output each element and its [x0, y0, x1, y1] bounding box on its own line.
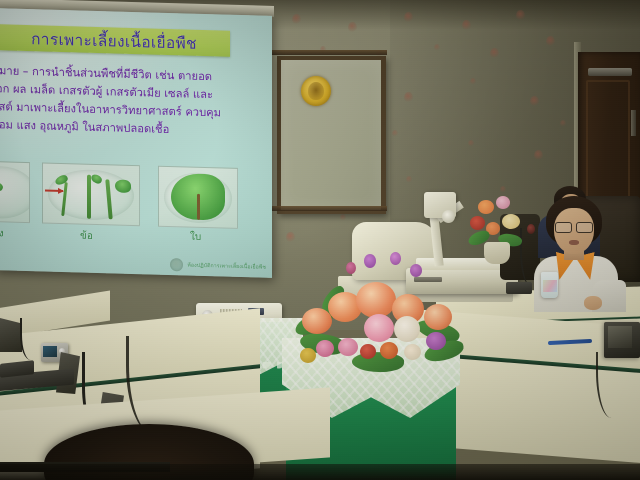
- gooseneck-microphone-front-left: [20, 318, 38, 360]
- projection-screen: การเพาะเลี้ยงเนื้อเยื่อพืช ามหมาย – การน…: [0, 8, 272, 288]
- eyeglasses: [555, 222, 593, 231]
- white-orchid: [394, 316, 420, 342]
- university-emblem: [301, 76, 331, 106]
- microphone-head: [527, 224, 535, 234]
- glass-label: [543, 280, 557, 292]
- chrysanthemum: [364, 314, 394, 342]
- screen-vignette: [0, 8, 272, 278]
- door-hinge-upper: [631, 110, 636, 136]
- floral-arrangement: [294, 252, 470, 374]
- microphone-base-speaker: [506, 282, 532, 294]
- overhead-projector-lens: [442, 210, 455, 223]
- water-glass: [541, 272, 558, 298]
- screen-surface: การเพาะเลี้ยงเนื้อเยื่อพืช ามหมาย – การน…: [0, 8, 272, 278]
- microphone-stand-far-left: [0, 318, 22, 352]
- board-rail-bottom: [265, 206, 387, 211]
- speaker-mouth: [569, 240, 579, 245]
- camera-screen: [43, 346, 57, 357]
- flower-vase: [484, 242, 510, 264]
- board-rail-top: [265, 50, 387, 55]
- control-unit-face: [608, 326, 632, 348]
- speaker-woman: [524, 196, 628, 312]
- photo-scene: การเพาะเลี้ยงเนื้อเยื่อพืช ามหมาย – การน…: [0, 0, 640, 480]
- door-closer: [588, 68, 632, 76]
- background-vase-flowers: [468, 196, 528, 264]
- bottom-bar: [0, 464, 640, 480]
- framed-whiteboard: [277, 56, 386, 214]
- speaker-hand: [584, 296, 602, 310]
